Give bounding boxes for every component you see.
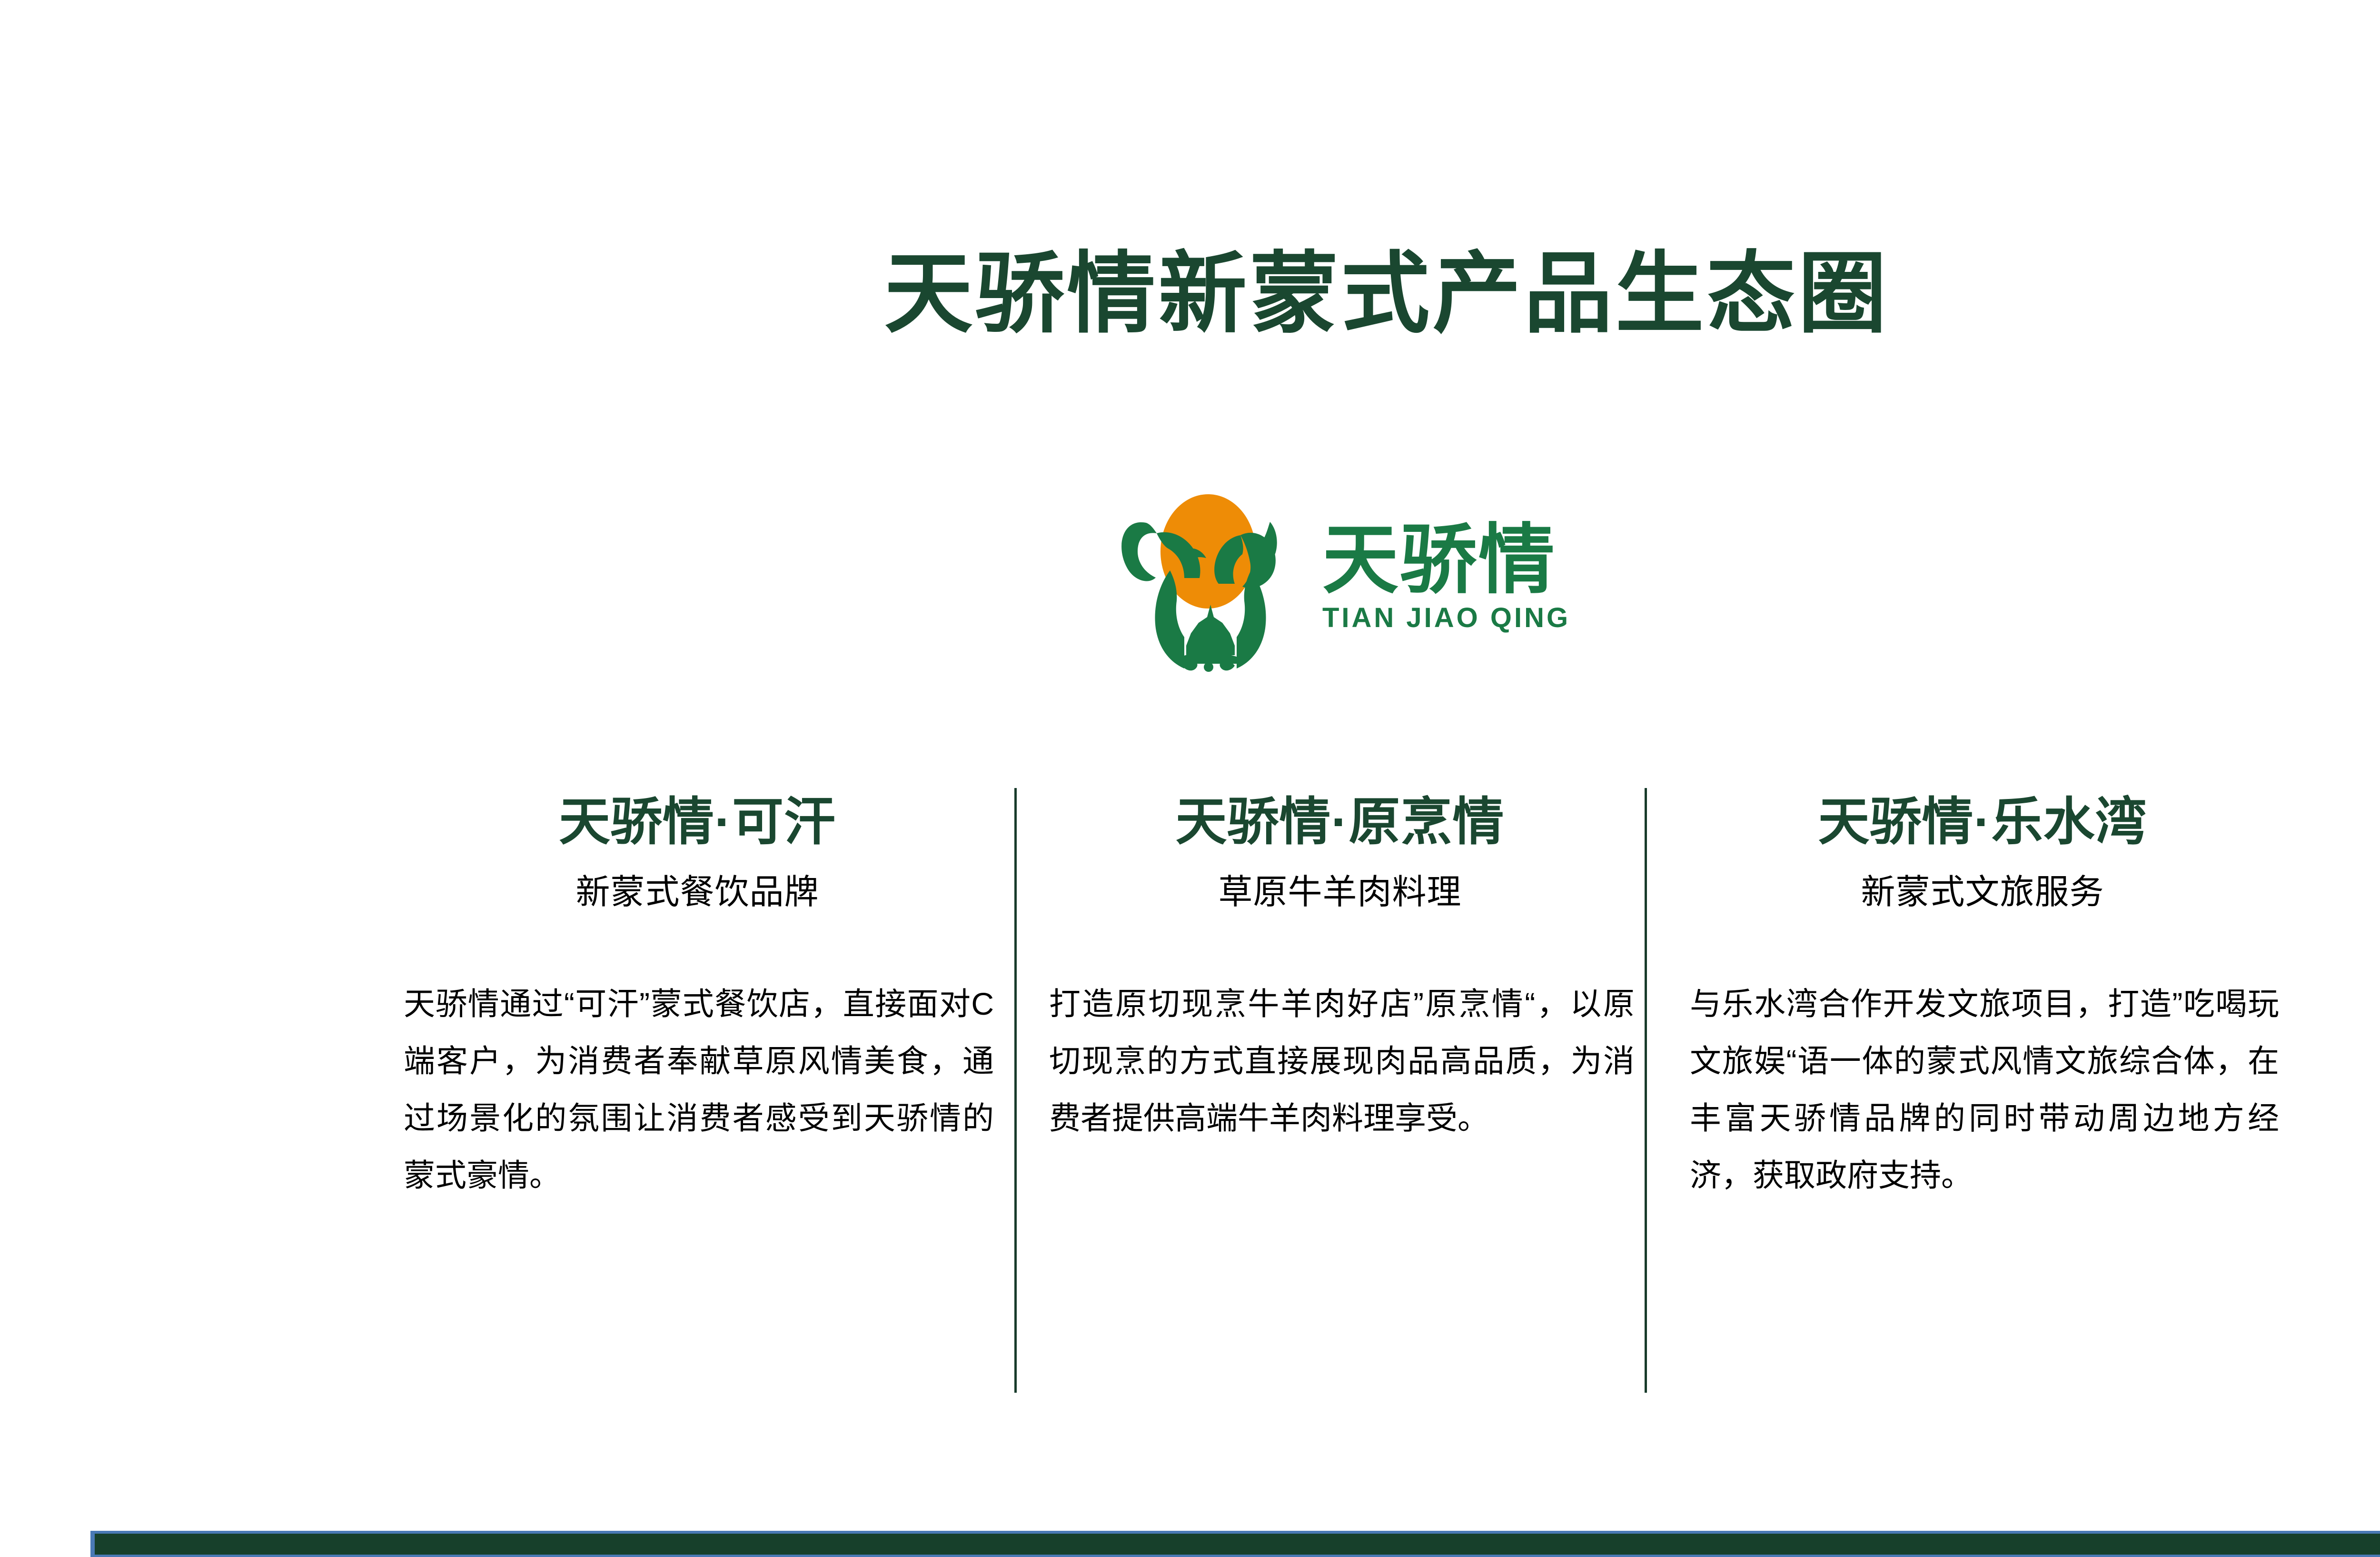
slide-canvas: 天骄情 TIAN JIAO QING 高|品|质|健|康|牛|羊|肉 天骄情新蒙… bbox=[0, 0, 2380, 1557]
product-column-yuanpengqing: 天骄情·原烹情 草原牛羊肉料理 打造原切现烹牛羊肉好店”原烹情“，以原切现烹的方… bbox=[1033, 781, 1647, 1400]
hero-brand-logo: 天骄情 TIAN JIAO QING bbox=[1113, 480, 1665, 680]
column-heading: 天骄情·原烹情 bbox=[1033, 791, 1647, 852]
column-subtitle: 新蒙式文旅服务 bbox=[1676, 872, 2290, 913]
column-divider-right bbox=[1645, 788, 1647, 1393]
bottom-accent-bar bbox=[90, 1531, 2380, 1557]
column-subtitle: 新蒙式餐饮品牌 bbox=[390, 872, 1004, 913]
hero-logo-wordmark-en: TIAN JIAO QING bbox=[1322, 602, 1660, 634]
product-column-kehan: 天骄情·可汗 新蒙式餐饮品牌 天骄情通过“可汗”蒙式餐饮店，直接面对C端客户，为… bbox=[390, 781, 1004, 1400]
bottom-accent-bar-fill bbox=[95, 1534, 2380, 1555]
column-body-text: 打造原切现烹牛羊肉好店”原烹情“，以原切现烹的方式直接展现肉品高品质，为消费者提… bbox=[1033, 975, 1647, 1147]
hero-logo-wordmark-cn: 天骄情 bbox=[1322, 521, 1660, 599]
hero-logo-wordmark: 天骄情 TIAN JIAO QING bbox=[1322, 521, 1660, 634]
column-divider-left bbox=[1014, 788, 1017, 1393]
column-body-text: 与乐水湾合作开发文旅项目，打造”吃喝玩文旅娱“语一体的蒙式风情文旅综合体，在丰富… bbox=[1676, 975, 2290, 1204]
column-subtitle: 草原牛羊肉料理 bbox=[1033, 872, 1647, 913]
column-heading: 天骄情·可汗 bbox=[390, 791, 1004, 852]
tianjiaoqing-logo-icon bbox=[1113, 480, 1303, 673]
product-column-leshuiwan: 天骄情·乐水湾 新蒙式文旅服务 与乐水湾合作开发文旅项目，打造”吃喝玩文旅娱“语… bbox=[1676, 781, 2290, 1400]
column-heading: 天骄情·乐水湾 bbox=[1676, 791, 2290, 852]
column-body-text: 天骄情通过“可汗”蒙式餐饮店，直接面对C端客户，为消费者奉献草原风情美食，通过场… bbox=[390, 975, 1004, 1204]
product-columns: 天骄情·可汗 新蒙式餐饮品牌 天骄情通过“可汗”蒙式餐饮店，直接面对C端客户，为… bbox=[390, 781, 2380, 1400]
page-title: 天骄情新蒙式产品生态圈 bbox=[0, 246, 2380, 343]
